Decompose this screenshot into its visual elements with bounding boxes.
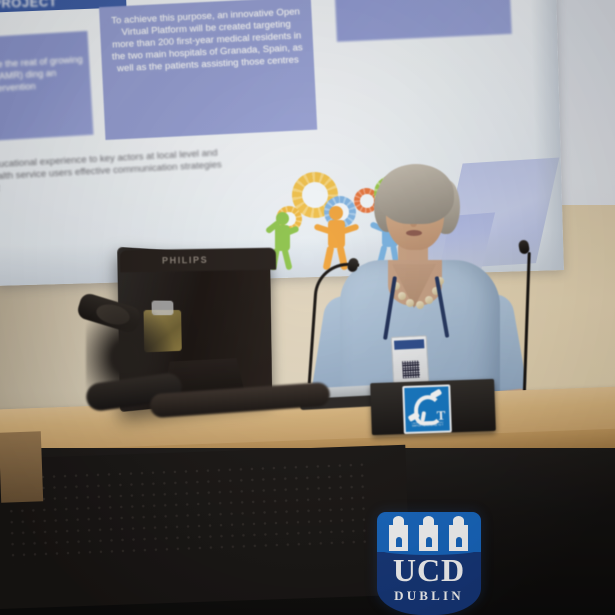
ucd-wordmark: UCD DUBLIN: [377, 552, 481, 603]
speaker-mouth: [406, 230, 422, 236]
speaker-hair: [378, 164, 454, 224]
qr-code-icon: [402, 361, 420, 379]
hearing-loop-caption: HEARING LOOP INSTALLED SWITCH HEARING AI…: [408, 422, 448, 431]
ucd-dublin-logo: UCD DUBLIN: [377, 512, 481, 615]
slide-box-middle: To achieve this purpose, an innovative O…: [99, 0, 317, 140]
telecoil-letter: T: [436, 410, 445, 422]
lectern-perforation: [4, 459, 367, 565]
lectern-side-panel: [0, 431, 43, 502]
hearing-loop-sign-box: T HEARING LOOP INSTALLED SWITCH HEARING …: [370, 379, 496, 435]
hearing-loop-icon: T HEARING LOOP INSTALLED SWITCH HEARING …: [402, 384, 452, 434]
badge-header-strip: [394, 339, 424, 350]
castle-tower-icon-3: [449, 521, 468, 551]
castle-tower-icon-1: [389, 521, 408, 551]
castle-tower-icon-2: [419, 521, 438, 551]
monitor-top-bezel: PHILIPS: [120, 248, 276, 273]
lecture-theatre-photo: PROJECT aims to tackle the reat of growi…: [0, 0, 615, 615]
slide-header-label: PROJECT: [0, 0, 57, 11]
speaker-necklace: [392, 272, 438, 308]
slide-box-left: aims to tackle the reat of growing l res…: [0, 31, 94, 144]
conference-badge: [391, 335, 429, 385]
ucd-sub-text: DUBLIN: [377, 588, 481, 603]
ucd-shield: UCD DUBLIN: [377, 512, 481, 615]
ucd-main-text: UCD: [377, 552, 481, 588]
monitor-brand-label: PHILIPS: [162, 255, 208, 266]
